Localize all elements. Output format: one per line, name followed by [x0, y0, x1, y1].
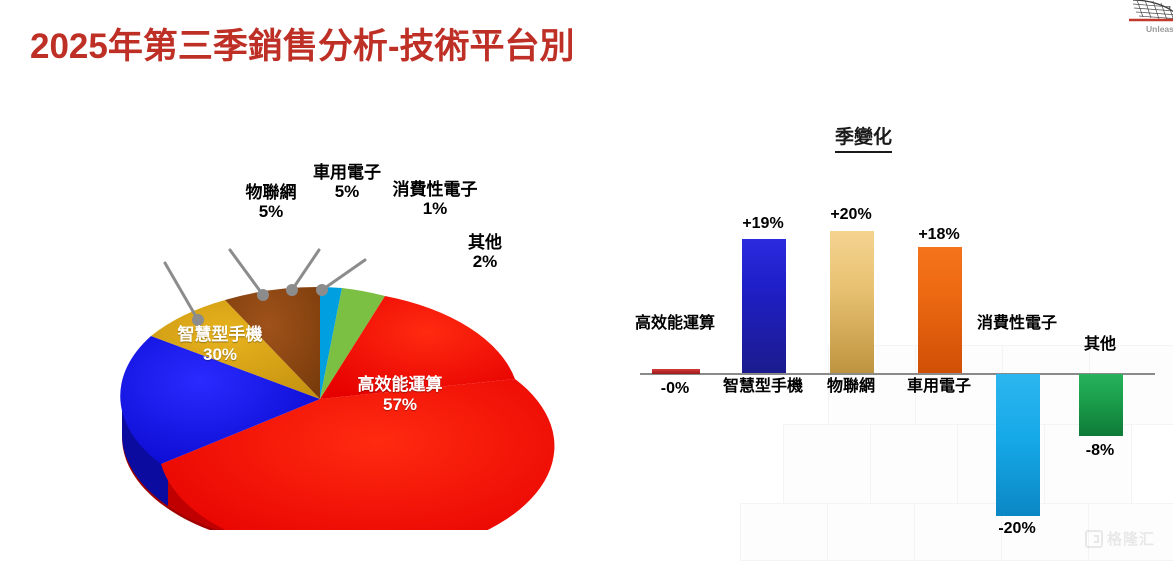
pie-label-value: 5%: [216, 202, 326, 221]
pie-chart: 物聯網 5% 車用電子 5% 消費性電子 1% 其他 2% 智慧型手機 30% …: [20, 150, 580, 530]
bar-column-automotive: +18% 車用電子: [902, 120, 976, 550]
bar-rect-automotive[interactable]: [918, 247, 962, 373]
bar-rect-consumer[interactable]: [996, 374, 1040, 516]
watermark-text: 格隆汇: [1107, 528, 1155, 549]
bar-category-label: 其他: [1057, 336, 1143, 354]
bar-category-label: 物聯網: [808, 378, 894, 396]
bar-column-others: 其他 -8%: [1063, 120, 1137, 550]
bar-rect-smartphone[interactable]: [742, 239, 786, 373]
bar-chart: 季變化 高效能運算 -0% +19% 智慧型手機 +20% 物聯網 +18% 車…: [620, 120, 1165, 550]
pie-label-name: 智慧型手機: [140, 325, 300, 345]
bar-column-iot: +20% 物聯網: [814, 120, 888, 550]
watermark: 格隆汇: [1085, 528, 1155, 549]
pie-label-value: 57%: [320, 395, 480, 415]
pie-label-others: 其他 2%: [440, 233, 530, 271]
pie-label-name: 消費性電子: [375, 180, 495, 199]
pie-label-hpc: 高效能運算 57%: [320, 375, 480, 414]
bar-category-label: 消費性電子: [974, 315, 1060, 333]
bar-category-label: 高效能運算: [632, 315, 718, 333]
bar-value-label: -20%: [980, 520, 1054, 538]
pie-label-smartphone: 智慧型手機 30%: [140, 325, 300, 364]
pie-label-value: 2%: [440, 252, 530, 271]
bar-category-label: 車用電子: [896, 378, 982, 396]
bar-value-label: +18%: [902, 226, 976, 244]
bar-value-label: +19%: [726, 215, 800, 233]
bar-rect-others[interactable]: [1079, 374, 1123, 436]
bar-value-label: -8%: [1063, 442, 1137, 460]
slide-canvas: 2025年第三季銷售分析-技術平台別 Unleash In: [0, 0, 1173, 559]
logo-mark-icon: [1127, 0, 1173, 24]
company-logo: Unleash In: [1101, 0, 1173, 42]
logo-tagline: Unleash In: [1146, 24, 1173, 34]
pie-label-consumer: 消費性電子 1%: [375, 180, 495, 218]
pie-label-value: 30%: [140, 345, 300, 365]
bar-column-smartphone: +19% 智慧型手機: [726, 120, 800, 550]
pie-label-value: 1%: [375, 199, 495, 218]
page-title: 2025年第三季銷售分析-技術平台別: [30, 18, 575, 69]
bar-value-label: -0%: [638, 380, 712, 398]
bar-column-hpc: 高效能運算 -0%: [638, 120, 712, 550]
pie-label-name: 高效能運算: [320, 375, 480, 395]
bar-column-consumer: 消費性電子 -20%: [980, 120, 1054, 550]
bar-value-label: +20%: [814, 206, 888, 224]
bar-category-label: 智慧型手機: [720, 378, 806, 396]
watermark-square-icon: [1085, 530, 1103, 548]
bar-rect-iot[interactable]: [830, 231, 874, 373]
pie-label-name: 其他: [440, 233, 530, 252]
bar-rect-hpc[interactable]: [652, 369, 700, 374]
